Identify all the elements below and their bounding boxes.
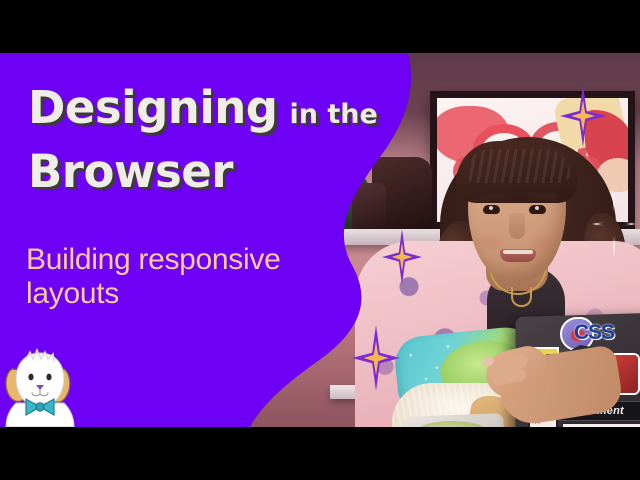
- title-line-1: Designingin the: [28, 81, 378, 134]
- cartoon-dog-logo: [2, 345, 80, 427]
- video-frame: CSS JS Erpxiement CENTERED: [0, 0, 640, 480]
- title-main-word: Designing: [28, 81, 278, 134]
- sparkle-icon-top: [560, 85, 606, 147]
- title-line-2: Browser: [28, 145, 233, 198]
- title-small-words: in the: [290, 99, 378, 130]
- subtitle: Building responsive layouts: [26, 243, 356, 311]
- letterbox-bottom: [0, 427, 640, 480]
- smile: [500, 249, 536, 262]
- letterbox-top: [0, 0, 640, 53]
- css-sticker: CSS: [574, 321, 640, 347]
